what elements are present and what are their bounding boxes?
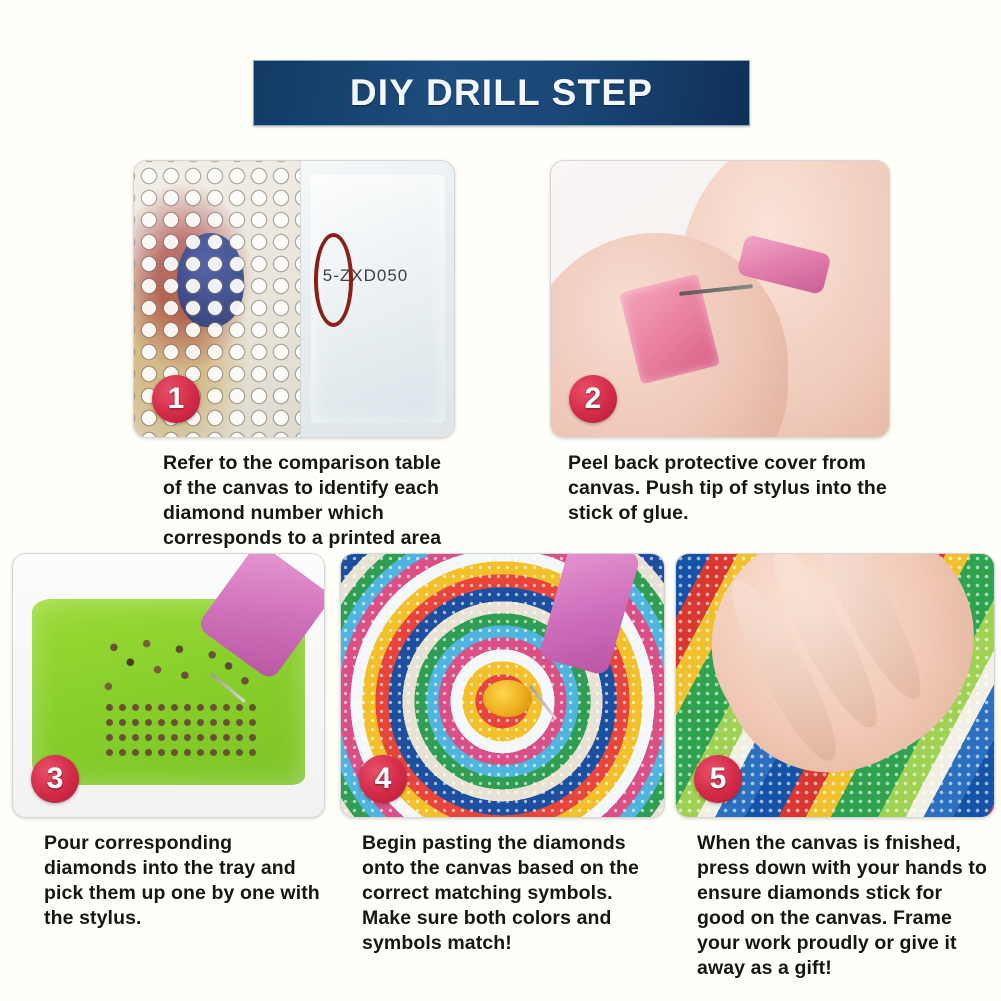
green-tray-diamonds-photo: 3	[12, 553, 325, 818]
step-badge-2: 2	[569, 375, 617, 423]
mandala-center-gem	[483, 680, 531, 717]
step-card-5: 5 When the canvas is fnished, press down…	[675, 553, 995, 981]
step-caption-4: Begin pasting the diamonds onto the canv…	[340, 831, 665, 956]
step-badge-5: 5	[694, 755, 742, 803]
step-card-4: 4 Begin pasting the diamonds onto the ca…	[340, 553, 665, 956]
step-caption-2: Peel back protective cover from canvas. …	[550, 451, 890, 526]
hands-stylus-glue-photo: 2	[550, 160, 890, 438]
step-badge-4: 4	[359, 755, 407, 803]
step-caption-5: When the canvas is fnished, press down w…	[675, 831, 995, 981]
bag-code-label: 5-ZXD050	[323, 266, 408, 286]
step-badge-3: 3	[31, 755, 79, 803]
diamond-bag-region: 5-ZXD050	[300, 161, 454, 437]
page-title: DIY DRILL STEP	[350, 72, 653, 114]
hand-pressing-finished-canvas-photo: 5	[675, 553, 995, 818]
step-card-2: 2 Peel back protective cover from canvas…	[550, 160, 890, 526]
mandala-canvas-stylus-photo: 4	[340, 553, 665, 818]
step-badge-1: 1	[152, 375, 200, 423]
canvas-chart-and-diamond-bag-photo: 5-ZXD050 1	[133, 160, 455, 438]
header-banner: DIY DRILL STEP	[253, 60, 750, 126]
step-card-1: 5-ZXD050 1 Refer to the comparison table…	[133, 160, 455, 576]
step-caption-3: Pour corresponding diamonds into the tra…	[12, 831, 325, 931]
aligned-diamond-rows	[103, 700, 262, 756]
header-banner-box: DIY DRILL STEP	[253, 60, 750, 126]
step-card-3: 3 Pour corresponding diamonds into the t…	[12, 553, 325, 931]
